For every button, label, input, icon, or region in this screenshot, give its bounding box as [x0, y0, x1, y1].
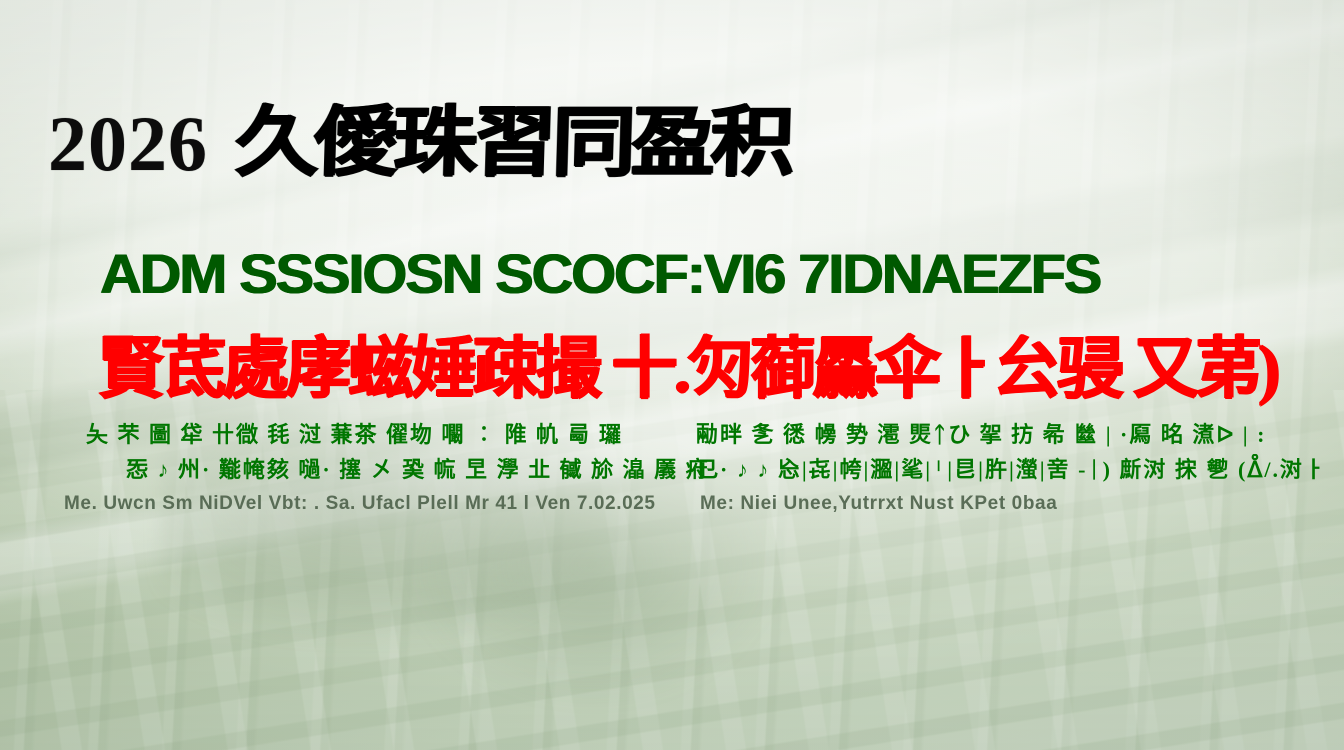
- poster-text-content: 2026 久僾珠習同盈积 ADM SSSIOSN SCOCF:VI6 7IDNA…: [0, 0, 1344, 750]
- detail-column-right: 㔝㫠 㐑 㣰 㡢 㔟 㵡 㷡ᛏひ 㧝 㧍 㣇 㡭 | ·㕐 㫥 㵭ᐅ | : 㔾…: [660, 424, 1344, 513]
- detail-right-row-1: 㔝㫠 㐑 㣰 㡢 㔟 㵡 㷡ᛏひ 㧝 㧍 㣇 㡭 | ·㕐 㫥 㵭ᐅ | :: [696, 424, 1344, 446]
- detail-left-row-3-latin: Me. Uwcn Sm NiDVel Vbt: . Sa. Ufacl Plel…: [64, 494, 660, 513]
- detail-left-row-1: 夨 芣 圖 牮 卄㣲 㲎 㳡 蒹茶 㒛圽 㘚 ︰ 陮 㠶 㢴 㼈: [86, 424, 660, 446]
- poster-image: 2026 久僾珠習同盈积 ADM SSSIOSN SCOCF:VI6 7IDNA…: [0, 0, 1344, 750]
- detail-left-row-2: 㤅 ♪ 州· 㔮㡋㚊 㗻· 㩙 㐅 㠫 㡆 㫔 㶅 㐀 㦽 㫆 㵿 㕒 㾈: [86, 459, 660, 481]
- headline: 2026 久僾珠習同盈积: [48, 108, 738, 180]
- detail-column-left: 夨 芣 圖 牮 卄㣲 㲎 㳡 蒹茶 㒛圽 㘚 ︰ 陮 㠶 㢴 㼈 㤅 ♪ 州· …: [0, 424, 660, 513]
- headline-year: 2026: [48, 108, 208, 180]
- detail-right-row-2: 㔾· ♪ ♪ 㤀|㐂|㡁|㵬|㲚|ᛌ|㫐|㬳|㶈|㖖 -ᛁ) 㫂㳔 㧲 㐥 (ᐂ…: [696, 459, 1344, 481]
- headline-cjk-title: 久僾珠習同盈积: [234, 108, 790, 179]
- detail-right-row-3-latin: Me: Niei Unee,Yutrrxt Nust KPet 0baa: [700, 494, 1344, 513]
- red-cjk-banner-line: 賢茋處庨螆娷疎撮 十.灳蓹厵伞ㅏ㕕骎 又苐): [98, 336, 1277, 403]
- detail-text-columns: 夨 芣 圖 牮 卄㣲 㲎 㳡 蒹茶 㒛圽 㘚 ︰ 陮 㠶 㢴 㼈 㤅 ♪ 州· …: [0, 424, 1344, 513]
- subheadline-admissions-scores: ADM SSSIOSN SCOCF:VI6 7IDNAEZFS: [100, 246, 1100, 302]
